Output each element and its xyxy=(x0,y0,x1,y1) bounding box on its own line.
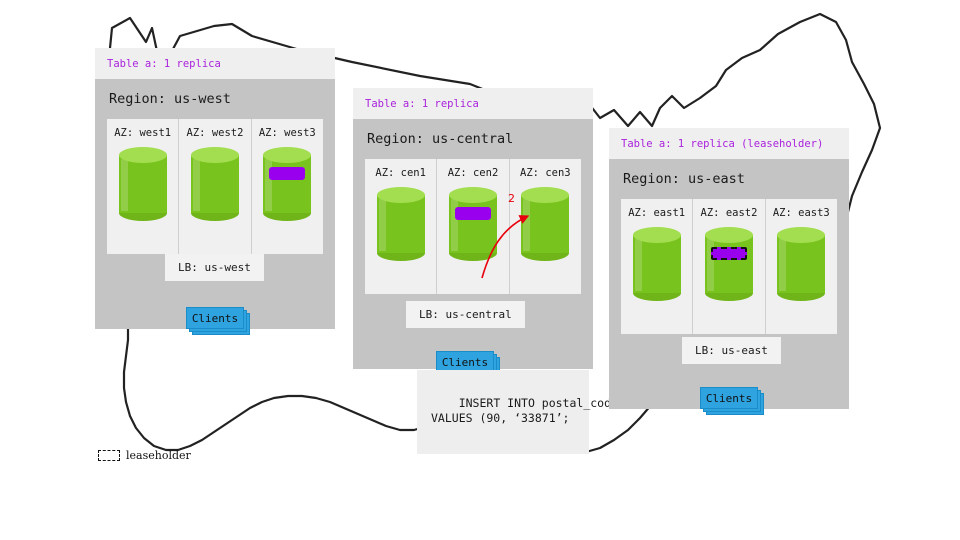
cylinder-highlight xyxy=(779,239,786,291)
legend-label: leaseholder xyxy=(126,449,191,462)
panel-header-us-west: Table a: 1 replica xyxy=(95,48,335,79)
clients-label: Clients xyxy=(192,312,238,325)
node-cylinder-west1[interactable] xyxy=(119,147,167,221)
cylinder-top xyxy=(377,187,425,203)
panel-body-us-central: Region: us-central AZ: cen1 AZ: cen2 xyxy=(353,119,593,369)
az-label: AZ: east2 xyxy=(699,207,758,219)
clients-label: Clients xyxy=(706,392,752,405)
cylinder-highlight xyxy=(635,239,642,291)
table-replica-label: Table a: 1 replica (leaseholder) xyxy=(621,138,823,150)
node-cylinder-east3[interactable] xyxy=(777,227,825,301)
az-cell-west3[interactable]: AZ: west3 xyxy=(251,119,323,254)
node-cylinder-cen1[interactable] xyxy=(377,187,425,261)
az-cell-east3[interactable]: AZ: east3 xyxy=(765,199,837,334)
cylinder-top xyxy=(449,187,497,203)
region-title: Region: us-central xyxy=(367,131,581,147)
az-label: AZ: west1 xyxy=(113,127,172,139)
panel-header-us-central: Table a: 1 replica xyxy=(353,88,593,119)
lb-label: LB: us-west xyxy=(178,261,251,274)
cylinder-top xyxy=(521,187,569,203)
az-label: AZ: cen1 xyxy=(371,167,430,179)
clients-stack-us-east[interactable]: Clients xyxy=(700,387,762,412)
dashed-rect-icon xyxy=(98,450,120,461)
replica-marker-leaseholder-east2 xyxy=(711,247,747,260)
replica-marker-cen2 xyxy=(455,207,491,220)
region-panel-us-central: Table a: 1 replica Region: us-central AZ… xyxy=(353,88,593,369)
clients-card-front[interactable]: Clients xyxy=(186,307,244,329)
cylinder-top xyxy=(119,147,167,163)
cylinder-highlight xyxy=(523,199,530,251)
clients-stack-us-west[interactable]: Clients xyxy=(186,307,248,332)
clients-label: Clients xyxy=(442,356,488,369)
diagram-canvas: Table a: 1 replica Region: us-west AZ: w… xyxy=(0,0,960,540)
region-panel-us-west: Table a: 1 replica Region: us-west AZ: w… xyxy=(95,48,335,329)
az-rack-us-east: AZ: east1 AZ: east2 xyxy=(621,199,837,334)
region-title: Region: us-west xyxy=(109,91,323,107)
cylinder-highlight xyxy=(193,159,200,211)
region-title: Region: us-east xyxy=(623,171,837,187)
cylinder-top xyxy=(191,147,239,163)
az-label: AZ: west2 xyxy=(185,127,244,139)
az-cell-west2[interactable]: AZ: west2 xyxy=(178,119,250,254)
node-cylinder-cen3[interactable] xyxy=(521,187,569,261)
az-label: AZ: cen2 xyxy=(443,167,502,179)
table-replica-label: Table a: 1 replica xyxy=(107,58,221,70)
az-label: AZ: east3 xyxy=(772,207,831,219)
az-label: AZ: east1 xyxy=(627,207,686,219)
panel-body-us-east: Region: us-east AZ: east1 AZ: east2 xyxy=(609,159,849,409)
cylinder-top xyxy=(777,227,825,243)
az-cell-east1[interactable]: AZ: east1 xyxy=(621,199,692,334)
az-label: AZ: west3 xyxy=(258,127,317,139)
load-balancer-us-west[interactable]: LB: us-west xyxy=(165,254,264,281)
node-cylinder-cen2[interactable] xyxy=(449,187,497,261)
az-cell-cen3[interactable]: AZ: cen3 xyxy=(509,159,581,294)
clients-card-front[interactable]: Clients xyxy=(700,387,758,409)
sql-text: INSERT INTO postal_codes VALUES (90, ‘33… xyxy=(431,396,625,425)
az-label: AZ: cen3 xyxy=(516,167,575,179)
az-cell-cen1[interactable]: AZ: cen1 xyxy=(365,159,436,294)
cylinder-highlight xyxy=(121,159,128,211)
az-cell-west1[interactable]: AZ: west1 xyxy=(107,119,178,254)
node-cylinder-east2[interactable] xyxy=(705,227,753,301)
lb-label: LB: us-central xyxy=(419,308,512,321)
lb-label: LB: us-east xyxy=(695,344,768,357)
panel-header-us-east: Table a: 1 replica (leaseholder) xyxy=(609,128,849,159)
cylinder-top xyxy=(705,227,753,243)
replica-marker-west3 xyxy=(269,167,305,180)
cylinder-top xyxy=(633,227,681,243)
panel-body-us-west: Region: us-west AZ: west1 AZ: west2 xyxy=(95,79,335,329)
region-panel-us-east: Table a: 1 replica (leaseholder) Region:… xyxy=(609,128,849,409)
table-replica-label: Table a: 1 replica xyxy=(365,98,479,110)
load-balancer-us-east[interactable]: LB: us-east xyxy=(682,337,781,364)
node-cylinder-east1[interactable] xyxy=(633,227,681,301)
cylinder-top xyxy=(263,147,311,163)
az-cell-cen2[interactable]: AZ: cen2 xyxy=(436,159,508,294)
az-rack-us-central: AZ: cen1 AZ: cen2 xyxy=(365,159,581,294)
load-balancer-us-central[interactable]: LB: us-central xyxy=(406,301,525,328)
legend-leaseholder: leaseholder xyxy=(98,449,191,462)
arrow-step-label: 2 xyxy=(508,192,515,205)
sql-statement-block: INSERT INTO postal_codes VALUES (90, ‘33… xyxy=(417,370,589,454)
node-cylinder-west2[interactable] xyxy=(191,147,239,221)
cylinder-highlight xyxy=(379,199,386,251)
az-cell-east2[interactable]: AZ: east2 xyxy=(692,199,764,334)
node-cylinder-west3[interactable] xyxy=(263,147,311,221)
az-rack-us-west: AZ: west1 AZ: west2 xyxy=(107,119,323,254)
